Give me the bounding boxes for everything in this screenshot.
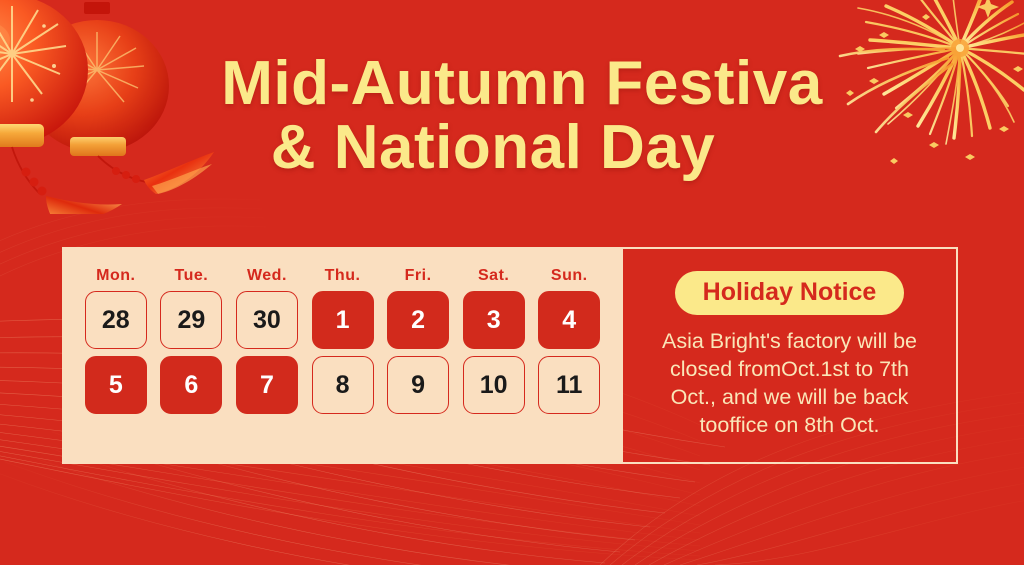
day-cell[interactable]: 5 xyxy=(85,356,147,414)
day-slot: 3 xyxy=(456,291,532,349)
day-slot: 29 xyxy=(154,291,230,349)
day-slot: 9 xyxy=(380,356,456,414)
day-cell[interactable]: 10 xyxy=(463,356,525,414)
day-slot: 2 xyxy=(380,291,456,349)
day-slot: 8 xyxy=(305,356,381,414)
day-cell[interactable]: 3 xyxy=(463,291,525,349)
day-cell[interactable]: 7 xyxy=(236,356,298,414)
dow-sat: Sat. xyxy=(456,267,532,285)
calendar-week-row: 5 6 7 8 9 10 11 xyxy=(78,356,607,414)
day-cell[interactable]: 2 xyxy=(387,291,449,349)
day-cell[interactable]: 9 xyxy=(387,356,449,414)
day-slot: 7 xyxy=(229,356,305,414)
day-cell[interactable]: 11 xyxy=(538,356,600,414)
title-line-2: & National Day xyxy=(0,116,1024,180)
calendar-panel: Mon. Tue. Wed. Thu. Fri. Sat. Sun. 28 29… xyxy=(62,247,623,464)
chinese-lantern-pair xyxy=(0,0,266,214)
day-cell[interactable]: 28 xyxy=(85,291,147,349)
day-slot: 6 xyxy=(154,356,230,414)
day-slot: 30 xyxy=(229,291,305,349)
day-slot: 11 xyxy=(531,356,607,414)
day-cell[interactable]: 4 xyxy=(538,291,600,349)
day-slot: 28 xyxy=(78,291,154,349)
dow-fri: Fri. xyxy=(380,267,456,285)
notice-body-text: Asia Bright's factory will be closed fro… xyxy=(645,327,935,439)
dow-wed: Wed. xyxy=(229,267,305,285)
day-cell[interactable]: 29 xyxy=(160,291,222,349)
title-line-1: Mid-Autumn Festiva xyxy=(0,52,1024,116)
day-slot: 10 xyxy=(456,356,532,414)
dow-sun: Sun. xyxy=(531,267,607,285)
day-cell[interactable]: 1 xyxy=(312,291,374,349)
dow-mon: Mon. xyxy=(78,267,154,285)
day-slot: 5 xyxy=(78,356,154,414)
info-board: Mon. Tue. Wed. Thu. Fri. Sat. Sun. 28 29… xyxy=(62,247,958,464)
holiday-notice-poster: Mid-Autumn Festiva & National Day Mon. T… xyxy=(0,0,1024,565)
holiday-notice-badge: Holiday Notice xyxy=(675,271,905,315)
day-cell[interactable]: 8 xyxy=(312,356,374,414)
day-slot: 1 xyxy=(305,291,381,349)
firework-burst xyxy=(822,0,1024,186)
calendar-week-row: 28 29 30 1 2 3 4 xyxy=(78,291,607,349)
day-of-week-header: Mon. Tue. Wed. Thu. Fri. Sat. Sun. xyxy=(78,267,607,285)
day-slot: 4 xyxy=(531,291,607,349)
dow-thu: Thu. xyxy=(305,267,381,285)
notice-panel: Holiday Notice Asia Bright's factory wil… xyxy=(623,247,958,464)
dow-tue: Tue. xyxy=(154,267,230,285)
day-cell[interactable]: 30 xyxy=(236,291,298,349)
page-title: Mid-Autumn Festiva & National Day xyxy=(0,52,1024,180)
day-cell[interactable]: 6 xyxy=(160,356,222,414)
